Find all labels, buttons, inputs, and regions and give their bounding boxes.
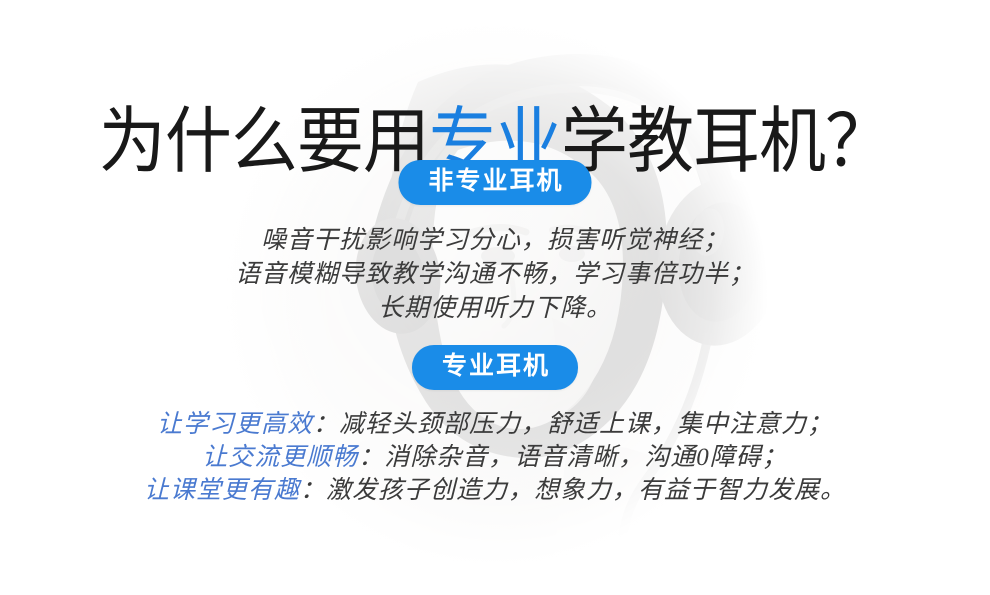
benefit-row-2: 让交流更顺畅：消除杂音，语音清晰，沟通0障碍； bbox=[0, 441, 990, 474]
benefit-key-3: 让课堂更有趣 bbox=[144, 477, 300, 504]
benefit-value-2: ：消除杂音，语音清晰，沟通0障碍； bbox=[358, 444, 788, 471]
content-layer: 为什么要用专业学教耳机？ 非专业耳机 噪音干扰影响学习分心，损害听觉神经； 语音… bbox=[0, 0, 990, 595]
page-title-prefix: 为什么要用 bbox=[99, 102, 429, 182]
benefit-key-2: 让交流更顺畅 bbox=[202, 444, 358, 471]
benefit-value-3: ：激发孩子创造力，想象力，有益于智力发展。 bbox=[300, 477, 846, 504]
non-professional-description: 噪音干扰影响学习分心，损害听觉神经； 语音模糊导致教学沟通不畅，学习事倍功半； … bbox=[0, 224, 990, 326]
badge-professional-headphones: 专业耳机 bbox=[412, 345, 578, 390]
benefit-row-1: 让学习更高效：减轻头颈部压力，舒适上课，集中注意力； bbox=[0, 408, 990, 441]
con-line-1: 噪音干扰影响学习分心，损害听觉神经； bbox=[0, 224, 990, 258]
page-title-suffix: 学教耳机？ bbox=[561, 102, 891, 182]
benefit-key-1: 让学习更高效 bbox=[157, 411, 313, 438]
con-line-2: 语音模糊导致教学沟通不畅，学习事倍功半； bbox=[0, 258, 990, 292]
benefit-value-1: ：减轻头颈部压力，舒适上课，集中注意力； bbox=[313, 411, 833, 438]
badge-non-professional-headphones: 非专业耳机 bbox=[398, 160, 591, 205]
benefit-row-3: 让课堂更有趣：激发孩子创造力，想象力，有益于智力发展。 bbox=[0, 474, 990, 507]
con-line-3: 长期使用听力下降。 bbox=[0, 292, 990, 326]
professional-benefit-list: 让学习更高效：减轻头颈部压力，舒适上课，集中注意力； 让交流更顺畅：消除杂音，语… bbox=[0, 408, 990, 507]
promo-banner: 为什么要用专业学教耳机？ 非专业耳机 噪音干扰影响学习分心，损害听觉神经； 语音… bbox=[0, 0, 990, 595]
